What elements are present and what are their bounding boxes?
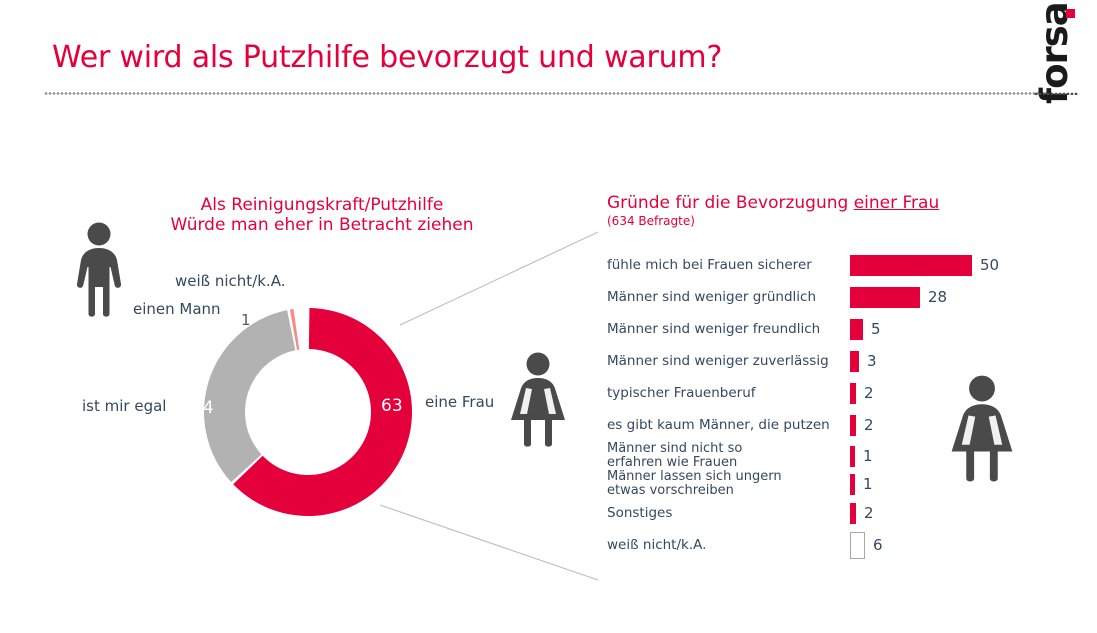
bar-fill <box>850 415 856 436</box>
bar-row-label: Männer sind weniger zuverlässig <box>607 354 850 368</box>
bar-fill <box>850 287 920 308</box>
bar-value-label: 2 <box>864 384 874 402</box>
bar-value-label: 2 <box>864 416 874 434</box>
donut-value-eine-frau: 63 <box>381 396 403 416</box>
bar-row: fühle mich bei Frauen sicherer50 <box>607 250 1037 280</box>
bar-row: Sonstiges2 <box>607 498 1037 528</box>
bar-track: 1 <box>850 469 1037 499</box>
bar-track: 2 <box>850 410 1037 440</box>
man-pictogram-icon <box>70 222 128 318</box>
bar-value-label: 50 <box>980 256 999 274</box>
bar-row-label-line-1: typischer Frauenberuf <box>607 386 846 400</box>
bar-value-label: 1 <box>863 475 873 493</box>
bar-row-label-line-2: erfahren wie Frauen <box>607 456 846 470</box>
donut-label-einen-mann: einen Mann <box>133 300 221 318</box>
bar-row-label-line-1: fühle mich bei Frauen sicherer <box>607 258 846 272</box>
forsa-logo-divider <box>1034 92 1078 95</box>
bar-row-label: es gibt kaum Männer, die putzen <box>607 418 850 432</box>
bar-row-label-line-1: weiß nicht/k.A. <box>607 538 846 552</box>
bar-track: 2 <box>850 378 1037 408</box>
bar-row-label-line-1: Männer sind weniger freundlich <box>607 322 846 336</box>
bar-value-label: 3 <box>867 352 877 370</box>
bar-track: 28 <box>850 282 1037 312</box>
bar-row: Männer lassen sich ungernetwas vorschrei… <box>607 470 1037 498</box>
bar-row: typischer Frauenberuf2 <box>607 378 1037 408</box>
bar-row-label-line-1: Männer sind weniger zuverlässig <box>607 354 846 368</box>
bar-track: 50 <box>850 250 1037 280</box>
bar-chart-title-underlined: einer Frau <box>854 193 940 213</box>
bar-value-label: 2 <box>864 504 874 522</box>
bar-row-label: weiß nicht/k.A. <box>607 538 850 552</box>
bar-fill <box>850 446 855 467</box>
forsa-logo-wordmark: forsa <box>1033 4 1077 104</box>
bar-row: es gibt kaum Männer, die putzen2 <box>607 410 1037 440</box>
donut-chart-title: Als Reinigungskraft/Putzhilfe Würde man … <box>152 195 492 235</box>
donut-title-line-2: Würde man eher in Betracht ziehen <box>152 215 492 235</box>
bar-value-label: 28 <box>928 288 947 306</box>
forsa-logo-dot-icon <box>1066 9 1075 18</box>
bar-value-label: 1 <box>863 447 873 465</box>
bar-row: Männer sind weniger gründlich28 <box>607 282 1037 312</box>
bar-fill <box>850 319 863 340</box>
bar-chart-title-prefix: Gründe für die Bevorzugung <box>607 193 854 213</box>
bar-fill <box>850 474 855 495</box>
bar-track: 5 <box>850 314 1037 344</box>
donut-label-ist-mir-egal: ist mir egal <box>82 397 166 415</box>
bar-chart-rows: fühle mich bei Frauen sicherer50Männer s… <box>607 250 1037 562</box>
bar-row-label-line-1: Männer lassen sich ungern <box>607 470 846 484</box>
donut-value-ist-mir-egal: 34 <box>192 398 214 418</box>
bar-row-label-line-2: etwas vorschreiben <box>607 484 846 498</box>
donut-title-line-1: Als Reinigungskraft/Putzhilfe <box>152 195 492 215</box>
bar-chart-subtitle: (634 Befragte) <box>607 214 695 228</box>
infographic-page: Wer wird als Putzhilfe bevorzugt und war… <box>0 0 1097 633</box>
bar-fill <box>850 503 856 524</box>
donut-label-weiss-nicht: weiß nicht/k.A. <box>175 272 285 290</box>
donut-label-eine-frau: eine Frau <box>425 393 494 411</box>
bar-row: weiß nicht/k.A.6 <box>607 530 1037 560</box>
page-title: Wer wird als Putzhilfe bevorzugt und war… <box>52 40 722 75</box>
bar-row-label: Männer lassen sich ungernetwas vorschrei… <box>607 470 850 498</box>
bar-row-label-line-1: Männer sind nicht so <box>607 442 846 456</box>
bar-fill <box>850 351 859 372</box>
bar-row-label: Männer sind weniger gründlich <box>607 290 850 304</box>
woman-pictogram-icon-center <box>508 352 568 448</box>
bar-track: 6 <box>850 530 1037 560</box>
bar-fill <box>850 383 856 404</box>
donut-value-einen-mann: 1 <box>241 311 251 329</box>
bar-value-label: 5 <box>871 320 881 338</box>
bar-track: 3 <box>850 346 1037 376</box>
bar-track: 1 <box>850 441 1037 471</box>
bar-row-label: fühle mich bei Frauen sicherer <box>607 258 850 272</box>
bar-row: Männer sind weniger zuverlässig3 <box>607 346 1037 376</box>
bar-chart-title: Gründe für die Bevorzugung einer Frau <box>607 193 939 213</box>
bar-row-label-line-1: Männer sind weniger gründlich <box>607 290 846 304</box>
bar-row-label: Männer sind weniger freundlich <box>607 322 850 336</box>
bar-row-label-line-1: Sonstiges <box>607 506 846 520</box>
bar-row-label: Sonstiges <box>607 506 850 520</box>
bar-track: 2 <box>850 498 1037 528</box>
bar-value-label: 6 <box>873 536 883 554</box>
bar-fill <box>850 255 972 276</box>
bar-row-label-line-1: es gibt kaum Männer, die putzen <box>607 418 846 432</box>
bar-row-label: typischer Frauenberuf <box>607 386 850 400</box>
bar-row: Männer sind nicht soerfahren wie Frauen1 <box>607 442 1037 470</box>
bar-fill <box>850 532 865 559</box>
forsa-logo: forsa <box>1029 2 1081 102</box>
bar-row: Männer sind weniger freundlich5 <box>607 314 1037 344</box>
donut-segment <box>204 310 295 482</box>
header-divider <box>44 92 1052 95</box>
bar-row-label: Männer sind nicht soerfahren wie Frauen <box>607 442 850 470</box>
